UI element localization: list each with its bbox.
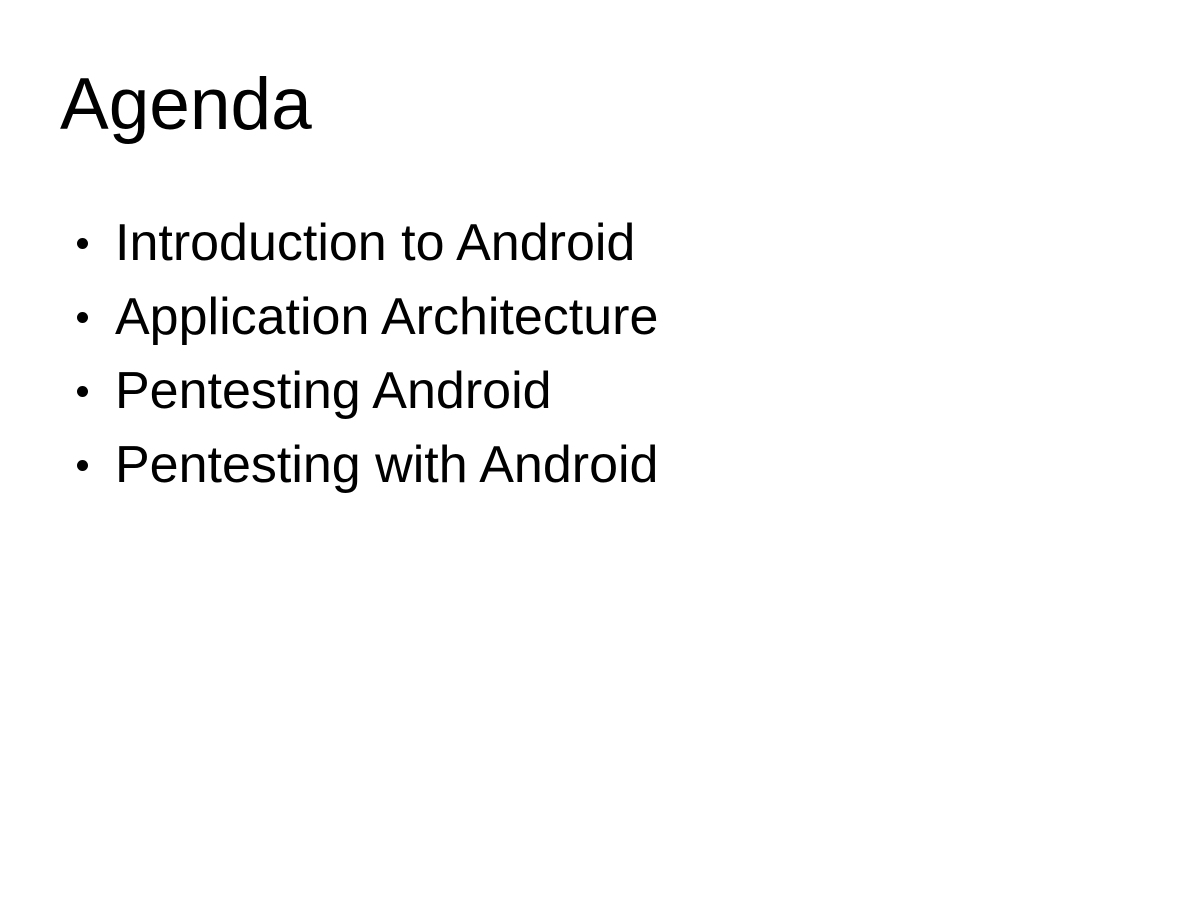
list-item-label: Introduction to Android: [115, 206, 635, 280]
bullet-dot-icon: [77, 460, 88, 471]
list-item-label: Pentesting Android: [115, 354, 552, 428]
list-item-label: Pentesting with Android: [115, 428, 658, 502]
list-item-label: Application Architecture: [115, 280, 658, 354]
presentation-slide: Agenda Introduction to Android Applicati…: [0, 0, 1200, 900]
list-item: Introduction to Android: [62, 206, 1122, 280]
list-item: Pentesting Android: [62, 354, 1122, 428]
page-title: Agenda: [60, 68, 312, 141]
list-item: Pentesting with Android: [62, 428, 1122, 502]
bullet-dot-icon: [77, 238, 88, 249]
list-item: Application Architecture: [62, 280, 1122, 354]
bullet-dot-icon: [77, 312, 88, 323]
agenda-bullet-list: Introduction to Android Application Arch…: [62, 206, 1122, 502]
bullet-dot-icon: [77, 386, 88, 397]
